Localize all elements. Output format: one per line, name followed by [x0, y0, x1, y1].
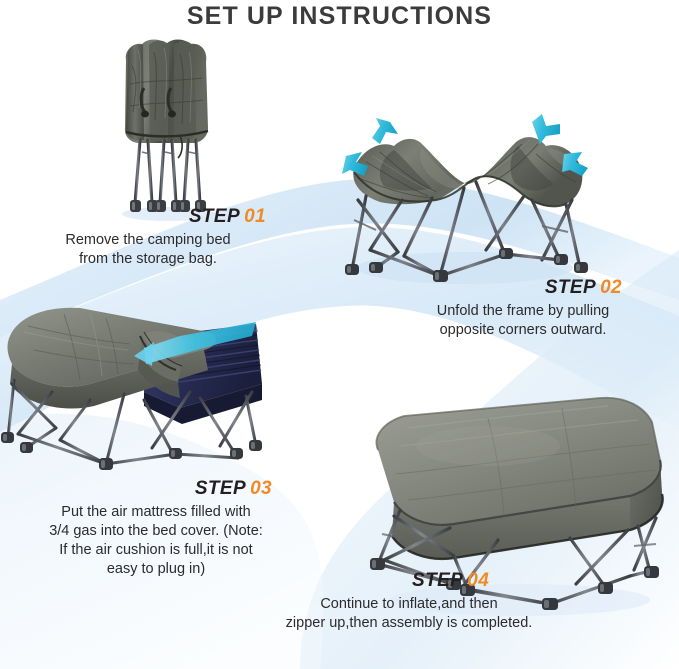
step-2-heading: STEP02	[392, 277, 654, 299]
step-3-body-line-1: Put the air mattress filled with	[22, 503, 290, 522]
step-2-body: Unfold the frame by pulling opposite cor…	[392, 302, 654, 340]
step-4-caption: STEP04 Continue to inflate,and then zipp…	[276, 570, 542, 633]
step-4-body-line-1: Continue to inflate,and then	[276, 595, 542, 614]
step-3-body-line-3: If the air cushion is full,it is not	[22, 541, 290, 560]
step-3-number: 03	[250, 478, 272, 499]
step-3-body-line-2: 3/4 gas into the bed cover. (Note:	[22, 522, 290, 541]
step-2-label: STEP	[545, 277, 596, 298]
illustration-step-3-air-mattress-into-cover	[0, 288, 262, 478]
step-3-label: STEP	[195, 478, 246, 499]
step-4-number: 04	[467, 570, 489, 591]
step-1-heading: STEP01	[24, 206, 272, 228]
step-3-heading: STEP03	[22, 478, 290, 500]
step-2-number: 02	[600, 277, 622, 298]
step-1-body-line-2: from the storage bag.	[24, 250, 272, 269]
illustration-step-1-folded-camping-bed	[108, 32, 226, 217]
step-4-label: STEP	[412, 570, 463, 591]
step-1-body: Remove the camping bed from the storage …	[24, 231, 272, 269]
step-1-label: STEP	[189, 206, 240, 227]
step-4-heading: STEP04	[276, 570, 542, 592]
step-4-body-line-2: zipper up,then assembly is completed.	[276, 614, 542, 633]
step-2-body-line-2: opposite corners outward.	[392, 321, 654, 340]
step-1-body-line-1: Remove the camping bed	[24, 231, 272, 250]
step-2-caption: STEP02 Unfold the frame by pulling oppos…	[392, 277, 654, 340]
instruction-sheet: SET UP INSTRUCTIONS	[0, 0, 679, 669]
step-1-caption: STEP01 Remove the camping bed from the s…	[24, 206, 272, 269]
step-3-caption: STEP03 Put the air mattress filled with …	[22, 478, 290, 579]
step-1-number: 01	[244, 206, 266, 227]
step-2-body-line-1: Unfold the frame by pulling	[392, 302, 654, 321]
step-3-body-line-4: easy to plug in)	[22, 560, 290, 579]
illustration-step-2-unfolded-frame	[336, 100, 594, 288]
step-4-body: Continue to inflate,and then zipper up,t…	[276, 595, 542, 633]
step-3-body: Put the air mattress filled with 3/4 gas…	[22, 503, 290, 580]
page-title: SET UP INSTRUCTIONS	[0, 2, 679, 31]
